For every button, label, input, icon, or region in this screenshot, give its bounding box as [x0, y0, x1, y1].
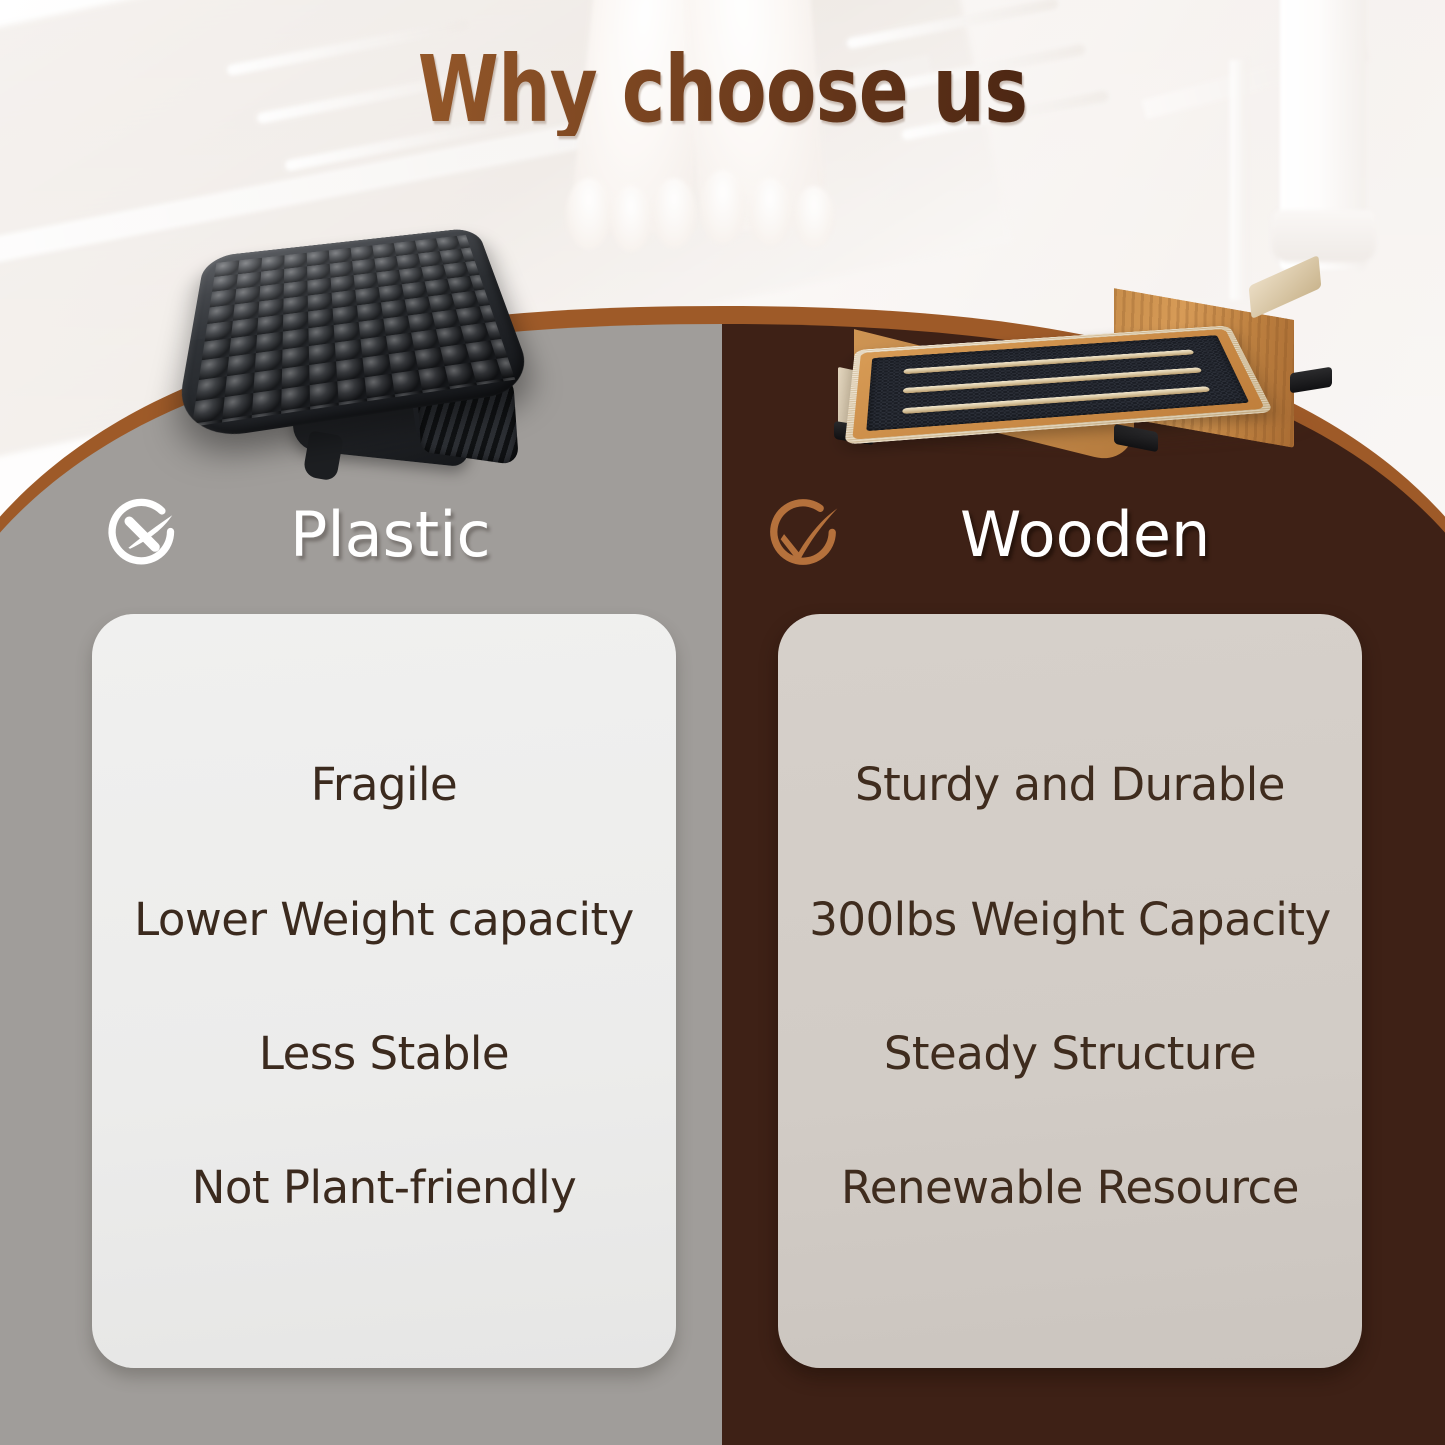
plastic-footrest-bracket [302, 430, 343, 481]
feature-item: Lower Weight capacity [134, 895, 634, 945]
column-header-wooden: Wooden [760, 492, 1210, 578]
product-image-wooden-footrest [818, 252, 1358, 474]
wooden-footrest-rubber-foot [1290, 367, 1332, 394]
product-image-plastic-footrest [186, 188, 536, 498]
cross-circle-icon [100, 492, 186, 578]
plastic-footrest-massage-bumps [192, 235, 515, 427]
feature-item: Less Stable [259, 1029, 509, 1079]
feature-item: Not Plant-friendly [192, 1163, 577, 1213]
feature-card-wooden: Sturdy and Durable 300lbs Weight Capacit… [778, 614, 1362, 1368]
feature-item: 300lbs Weight Capacity [809, 895, 1330, 945]
column-header-plastic: Plastic [100, 492, 491, 578]
check-circle-icon [760, 492, 846, 578]
page-title: Why choose us [145, 44, 1301, 136]
feature-card-plastic: Fragile Lower Weight capacity Less Stabl… [92, 614, 676, 1368]
wooden-footrest-back-lip [1249, 255, 1322, 319]
feature-item: Steady Structure [884, 1029, 1256, 1079]
feature-item: Sturdy and Durable [855, 760, 1285, 810]
infographic-canvas: Why choose us [0, 0, 1445, 1445]
column-label-wooden: Wooden [960, 504, 1210, 566]
column-label-plastic: Plastic [290, 504, 491, 566]
feature-item: Fragile [311, 760, 457, 810]
feature-item: Renewable Resource [841, 1163, 1299, 1213]
